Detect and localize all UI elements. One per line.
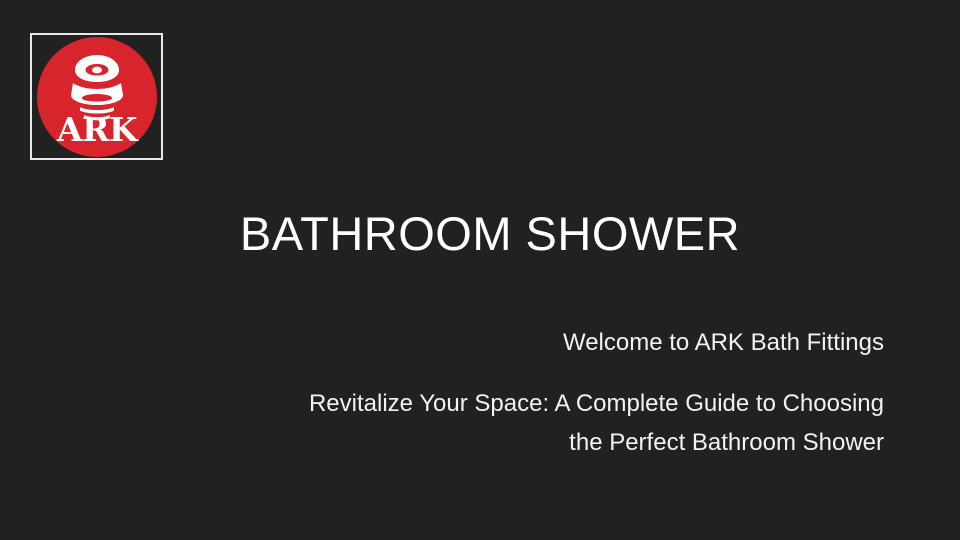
logo-red-circle: ARK	[37, 37, 157, 157]
subtitle-description: Revitalize Your Space: A Complete Guide …	[124, 385, 884, 463]
slide-title: BATHROOM SHOWER	[10, 208, 960, 261]
subtitle-description-line-2: the Perfect Bathroom Shower	[124, 424, 884, 463]
subtitle-welcome-line: Welcome to ARK Bath Fittings	[124, 331, 884, 355]
ark-shower-emblem-icon: ARK	[37, 37, 157, 157]
logo-wordmark-text: ARK	[55, 110, 138, 149]
logo-frame-inner: ARK	[32, 35, 161, 158]
ark-logo[interactable]: ARK	[30, 33, 163, 160]
presentation-slide: ARK BATHROOM SHOWER Welcome to ARK Bath …	[0, 0, 960, 540]
subtitle-description-line-1: Revitalize Your Space: A Complete Guide …	[124, 385, 884, 424]
slide-subtitle-group: Welcome to ARK Bath Fittings Revitalize …	[124, 331, 884, 463]
